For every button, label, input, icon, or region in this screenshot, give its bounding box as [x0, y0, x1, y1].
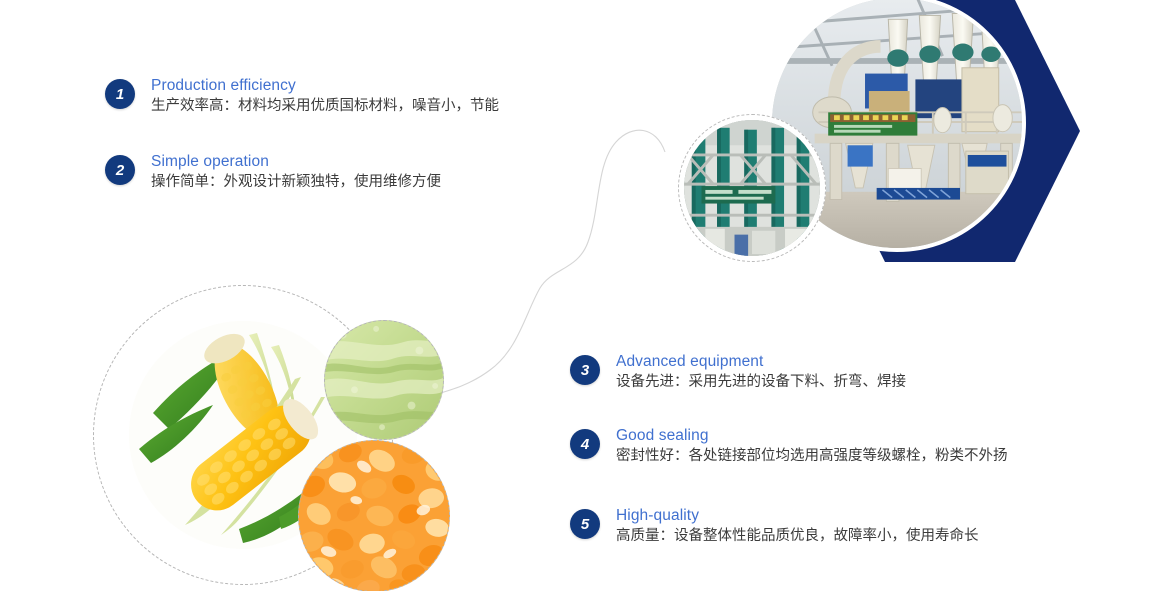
feature-badge-5: 5 — [570, 509, 600, 539]
feature-item-2[interactable]: 2 Simple operation 操作简单：外观设计新颖独特，使用维修方便 — [105, 152, 441, 193]
corn-flour-photo — [324, 320, 444, 440]
feature-desc-3: 设备先进：采用先进的设备下料、折弯、焊接 — [616, 372, 906, 393]
mill-equipment-closeup-inner — [684, 120, 820, 256]
feature-showcase-page: 1 Production efficiency 生产效率高：材料均采用优质国标材… — [0, 0, 1154, 591]
feature-desc-4: 密封性好：各处链接部位均选用高强度等级螺栓，粉类不外扬 — [616, 446, 1008, 467]
feature-badge-2: 2 — [105, 155, 135, 185]
feature-item-4[interactable]: 4 Good sealing 密封性好：各处链接部位均选用高强度等级螺栓，粉类不… — [570, 426, 1008, 467]
corn-photo-cluster — [90, 282, 480, 591]
corn-grits-photo-image — [299, 441, 449, 591]
mill-equipment-closeup-photo — [678, 114, 826, 262]
corn-flour-photo-image — [325, 321, 443, 439]
feature-badge-3: 3 — [570, 355, 600, 385]
corn-grits-photo — [298, 440, 450, 591]
feature-desc-5: 高质量：设备整体性能品质优良，故障率小，使用寿命长 — [616, 526, 979, 547]
feature-item-3[interactable]: 3 Advanced equipment 设备先进：采用先进的设备下料、折弯、焊… — [570, 352, 906, 393]
feature-desc-1: 生产效率高：材料均采用优质国标材料，噪音小，节能 — [151, 96, 499, 117]
feature-text-3: Advanced equipment 设备先进：采用先进的设备下料、折弯、焊接 — [616, 352, 906, 393]
mill-equipment-closeup-image — [684, 120, 820, 256]
feature-text-4: Good sealing 密封性好：各处链接部位均选用高强度等级螺栓，粉类不外扬 — [616, 426, 1008, 467]
feature-badge-1: 1 — [105, 79, 135, 109]
feature-title-4: Good sealing — [616, 426, 1008, 445]
feature-title-5: High-quality — [616, 506, 979, 525]
feature-item-1[interactable]: 1 Production efficiency 生产效率高：材料均采用优质国标材… — [105, 76, 499, 117]
feature-text-1: Production efficiency 生产效率高：材料均采用优质国标材料，… — [151, 76, 499, 117]
feature-title-1: Production efficiency — [151, 76, 499, 95]
feature-title-2: Simple operation — [151, 152, 441, 171]
feature-text-2: Simple operation 操作简单：外观设计新颖独特，使用维修方便 — [151, 152, 441, 193]
feature-badge-4: 4 — [570, 429, 600, 459]
feature-item-5[interactable]: 5 High-quality 高质量：设备整体性能品质优良，故障率小，使用寿命长 — [570, 506, 979, 547]
feature-desc-2: 操作简单：外观设计新颖独特，使用维修方便 — [151, 172, 441, 193]
hexagon-photo-cluster — [670, 0, 1154, 292]
feature-text-5: High-quality 高质量：设备整体性能品质优良，故障率小，使用寿命长 — [616, 506, 979, 547]
feature-title-3: Advanced equipment — [616, 352, 906, 371]
